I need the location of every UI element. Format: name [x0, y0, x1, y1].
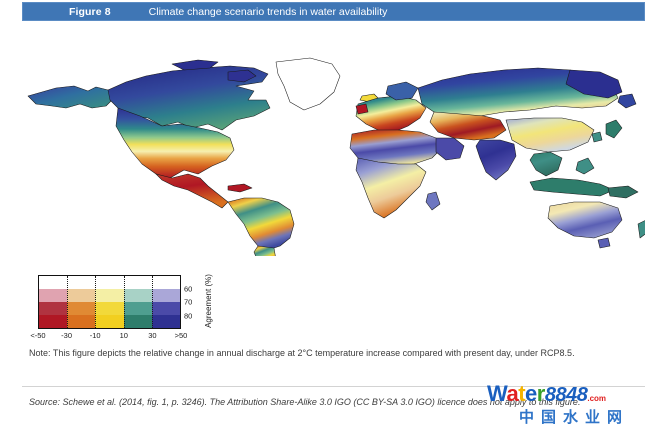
legend-x-tick-4: 30 — [148, 331, 156, 340]
region-korea — [592, 132, 602, 142]
world-map-graphic — [22, 46, 645, 256]
legend-swatch-r1c1 — [39, 276, 67, 289]
legend-x-tick-labels: <-50 -30 -10 10 30 >50 — [29, 331, 191, 340]
legend-y-tick-0: 60 — [184, 284, 192, 293]
figure-title-label: Climate change scenario trends in water … — [149, 6, 388, 18]
legend-divider-1 — [67, 276, 68, 328]
legend-swatch-r2c5 — [152, 289, 180, 302]
note-source-divider — [22, 386, 645, 387]
legend-swatch-r3c1 — [39, 302, 67, 315]
legend-y-axis-title: Agreement (%) — [204, 273, 213, 329]
legend-color-grid — [38, 275, 181, 329]
legend-swatch-r3c4 — [124, 302, 152, 315]
legend-divider-2 — [95, 276, 96, 328]
legend-swatch-r3c5 — [152, 302, 180, 315]
figure-page: Figure 8 Climate change scenario trends … — [0, 0, 658, 431]
legend-y-tick-2: 80 — [184, 311, 192, 320]
figure-note: Note: This figure depicts the relative c… — [29, 347, 637, 361]
legend-swatch-r1c4 — [124, 276, 152, 289]
legend-x-tick-2: -10 — [90, 331, 101, 340]
legend-swatch-r2c4 — [124, 289, 152, 302]
figure-header-bar: Figure 8 Climate change scenario trends … — [22, 2, 645, 21]
legend-y-tick-labels: 60 70 80 — [184, 275, 200, 329]
legend-y-tick-1: 70 — [184, 298, 192, 307]
legend-divider-4 — [152, 276, 153, 328]
region-tasmania — [598, 238, 610, 248]
map-legend: <-50 -30 -10 10 30 >50 Relative change (… — [38, 275, 218, 340]
legend-swatch-r3c3 — [95, 302, 123, 315]
legend-swatch-r1c3 — [95, 276, 123, 289]
legend-swatch-r4c4 — [124, 315, 152, 328]
legend-x-tick-5: >50 — [175, 331, 188, 340]
legend-swatch-r4c5 — [152, 315, 180, 328]
legend-swatch-r3c2 — [67, 302, 95, 315]
watermark-chinese-text: 中国水业网 — [519, 406, 629, 427]
legend-swatch-r4c3 — [95, 315, 123, 328]
figure-source: Source: Schewe et al. (2014, fig. 1, p. … — [29, 396, 629, 409]
region-british-isles — [356, 104, 368, 114]
legend-swatch-r1c5 — [152, 276, 180, 289]
legend-swatch-r4c1 — [39, 315, 67, 328]
legend-swatch-r2c1 — [39, 289, 67, 302]
legend-swatch-r2c3 — [95, 289, 123, 302]
legend-x-tick-0: <-50 — [30, 331, 45, 340]
legend-swatch-r4c2 — [67, 315, 95, 328]
figure-number-label: Figure 8 — [69, 6, 111, 18]
legend-x-tick-1: -30 — [61, 331, 72, 340]
legend-divider-3 — [124, 276, 125, 328]
legend-swatch-r2c2 — [67, 289, 95, 302]
legend-x-tick-3: 10 — [120, 331, 128, 340]
figure-map-panel: <-50 -30 -10 10 30 >50 Relative change (… — [22, 28, 645, 340]
legend-swatch-r1c2 — [67, 276, 95, 289]
